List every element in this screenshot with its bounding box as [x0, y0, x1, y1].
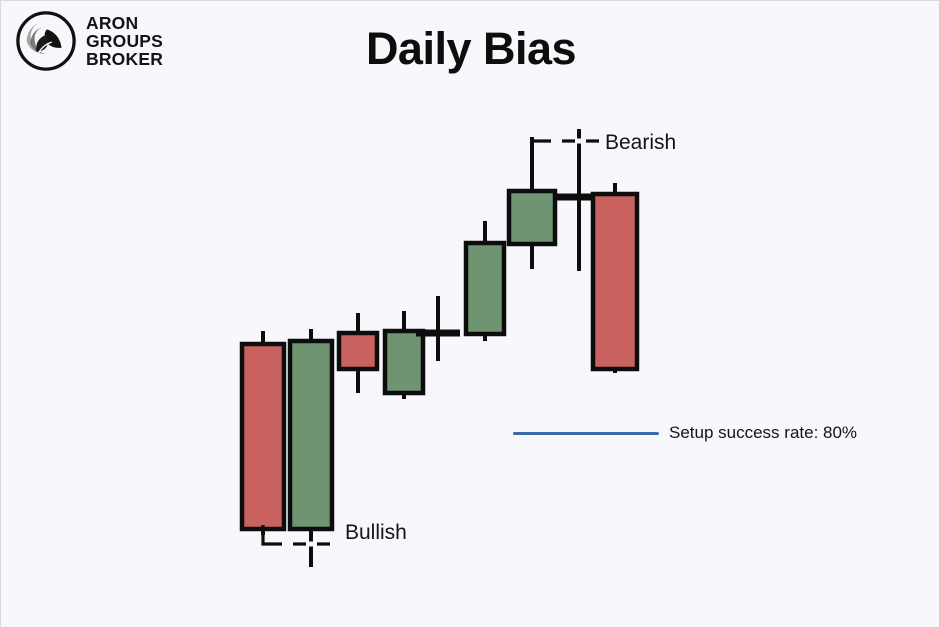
- candle-6-bullish: [466, 221, 504, 341]
- candle-body: [385, 331, 423, 393]
- candle-4-bullish: [385, 311, 423, 399]
- candle-body: [466, 243, 504, 334]
- candle-body: [593, 194, 637, 369]
- candle-body: [290, 341, 332, 529]
- bearish-annotation-connector: [532, 141, 601, 191]
- candle-body: [242, 344, 284, 529]
- candle-series: [242, 129, 637, 567]
- candle-3-bearish: [339, 313, 377, 393]
- annotation-label-bearish: Bearish: [605, 131, 676, 155]
- annotation-label-bullish: Bullish: [345, 521, 407, 545]
- candle-body: [339, 333, 377, 369]
- candle-1-bearish: [242, 331, 284, 535]
- legend: Setup success rate: 80%: [513, 423, 857, 443]
- candle-body: [509, 191, 555, 244]
- chart-canvas: ARON GROUPS BROKER Daily Bias Bearish Bu…: [0, 0, 940, 628]
- candlestick-chart: [1, 1, 940, 628]
- candle-9-bearish: [593, 183, 637, 373]
- candle-2-bullish: [290, 329, 332, 567]
- legend-line-swatch: [513, 432, 659, 435]
- legend-label: Setup success rate: 80%: [669, 423, 857, 443]
